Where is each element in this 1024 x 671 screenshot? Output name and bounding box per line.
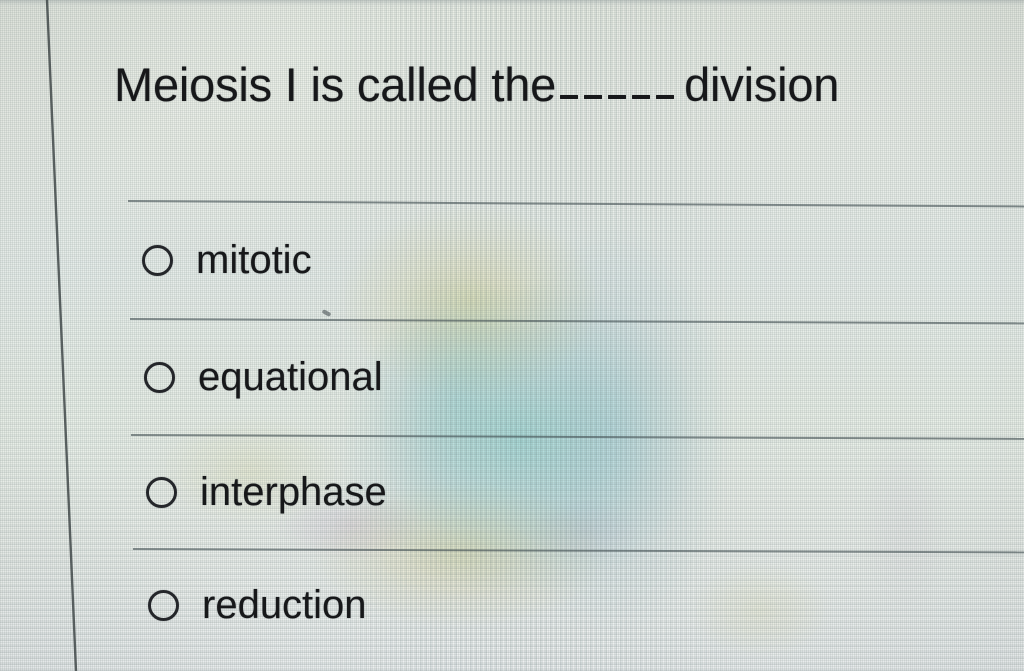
radio-unselected-icon[interactable] — [148, 590, 179, 621]
radio-unselected-icon[interactable] — [142, 245, 173, 276]
option-divider-3 — [133, 548, 1024, 553]
question-prefix: Meiosis I is called the — [114, 58, 556, 111]
option-label: mitotic — [196, 240, 312, 280]
option-row-equational[interactable]: equational — [144, 347, 383, 407]
option-row-reduction[interactable]: reduction — [148, 575, 367, 635]
question-text: Meiosis I is called thedivision — [114, 54, 839, 108]
option-row-mitotic[interactable]: mitotic — [142, 230, 312, 290]
radio-unselected-icon[interactable] — [144, 362, 175, 393]
question-suffix: division — [684, 58, 839, 111]
radio-unselected-icon[interactable] — [146, 477, 177, 508]
quiz-content: Meiosis I is called thedivision mitotic … — [0, 0, 1024, 671]
dust-speck-artifact — [322, 309, 332, 317]
option-divider-1 — [130, 318, 1024, 324]
question-blank — [560, 54, 678, 101]
option-divider-2 — [131, 434, 1024, 440]
option-label: interphase — [200, 472, 387, 512]
option-row-interphase[interactable]: interphase — [146, 462, 387, 522]
option-divider-top — [128, 200, 1024, 207]
option-label: reduction — [202, 585, 367, 625]
quiz-screen-photo: Meiosis I is called thedivision mitotic … — [0, 0, 1024, 671]
option-label: equational — [198, 357, 383, 397]
